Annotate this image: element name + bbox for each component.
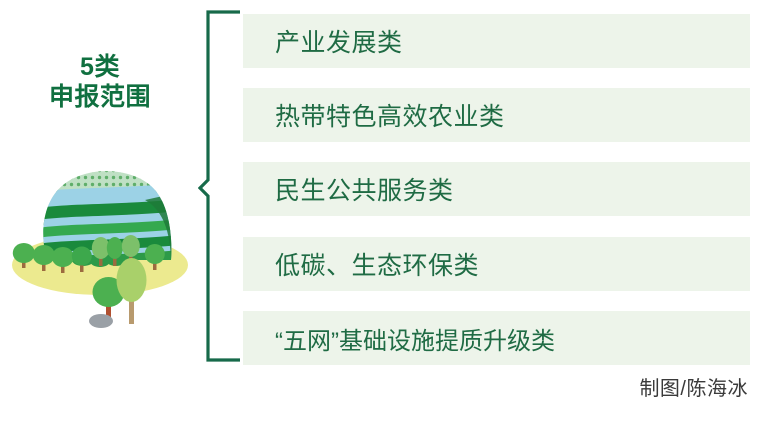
- list-item-label: 产业发展类: [243, 23, 403, 59]
- page-title-line1: 5类: [0, 52, 200, 82]
- list-item[interactable]: 低碳、生态环保类: [243, 237, 750, 291]
- infographic-root: 5类 申报范围: [0, 0, 768, 423]
- list-item[interactable]: 热带特色高效农业类: [243, 88, 750, 142]
- list-item-label: 热带特色高效农业类: [243, 97, 505, 133]
- terraced-hill-illustration: [5, 160, 200, 345]
- list-item-label: 民生公共服务类: [243, 171, 454, 207]
- list-item[interactable]: 民生公共服务类: [243, 162, 750, 216]
- left-column: 5类 申报范围: [0, 0, 200, 423]
- curly-brace: [198, 8, 248, 368]
- list-item-label: 低碳、生态环保类: [243, 246, 479, 282]
- list-item[interactable]: “五网”基础设施提质升级类: [243, 311, 750, 365]
- list-item[interactable]: 产业发展类: [243, 14, 750, 68]
- list-item-label: “五网”基础设施提质升级类: [243, 321, 555, 356]
- rock-shape: [89, 314, 113, 328]
- credit-line: 制图/陈海冰: [639, 372, 748, 401]
- category-list: 产业发展类 热带特色高效农业类 民生公共服务类 低碳、生态环保类 “五网”基础设…: [243, 0, 753, 423]
- page-title: 5类 申报范围: [0, 52, 200, 112]
- page-title-line2: 申报范围: [0, 82, 200, 112]
